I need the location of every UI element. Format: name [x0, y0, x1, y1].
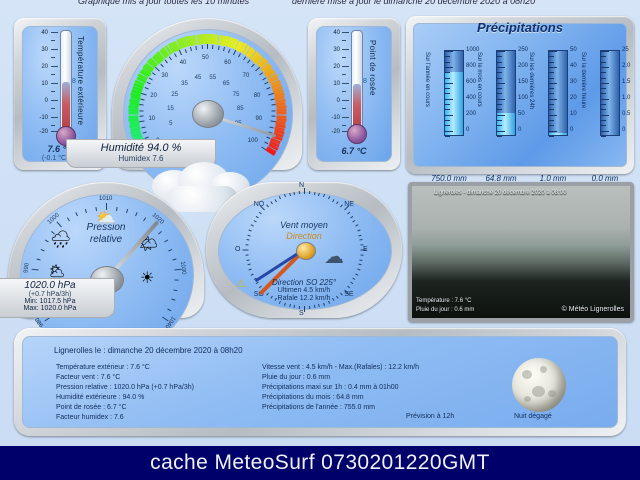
summary-line: Précipitations du mois : 64.8 mm — [262, 394, 364, 401]
top-caption: Graphique mis à jour toutes les 10 minut… — [0, 0, 640, 8]
precip-tick-label: 150 — [518, 79, 528, 85]
webcam-panel[interactable]: Ligneroles - dimanche 20 décembre 2020 à… — [408, 182, 634, 322]
precip-tick-label: 200 — [466, 111, 476, 117]
webcam-header: Ligneroles - dimanche 20 décembre 2020 à… — [434, 190, 566, 196]
precip-tick-label: 10 — [570, 111, 577, 117]
pressure-title-2: relative — [8, 234, 204, 245]
wind-gauge[interactable]: NNEESESSOONO Vent moyen Direction ⚠ ☁ Di… — [206, 182, 402, 318]
precip-tick-label: 400 — [466, 95, 476, 101]
precip-tick-label: 40 — [570, 63, 577, 69]
precip-tick-label: 50 — [570, 47, 577, 53]
summary-line: Facteur humidex : 7.6 — [56, 414, 124, 421]
precip-tick-label: 1.0 — [622, 95, 630, 101]
moon-phase-icon — [512, 358, 566, 412]
temperature-ticks — [51, 30, 59, 140]
webcam-rain: Pluie du jour : 0.6 mm — [416, 307, 474, 313]
forecast-label: Prévision à 12h — [406, 413, 454, 420]
precip-tick-label: 200 — [518, 63, 528, 69]
wind-title-2: Direction — [206, 231, 402, 241]
precip-tick-label: 50 — [518, 111, 525, 117]
precip-tick-label: 0 — [570, 127, 573, 133]
dewpoint-marker: 8 — [363, 78, 367, 85]
top-caption-right: dernière mise à jour le dimanche 20 déce… — [292, 0, 535, 6]
precip-tick-label: 250 — [518, 47, 528, 53]
webcam-credit: © Météo Lignerolles — [562, 306, 624, 313]
humidity-humidex: Humidex 7.6 — [75, 154, 207, 163]
precipitation-panel[interactable]: Précipitations Sur l'année en cours10008… — [406, 16, 634, 174]
precip-tick-label: 0 — [466, 127, 469, 133]
summary-line: Précipitations de l'année : 755.0 mm — [262, 404, 375, 411]
summary-line: Point de rosée : 6.7 °C — [56, 404, 127, 411]
precip-tick-label: 0 — [518, 127, 521, 133]
summary-date: Lignerolles le : dimanche 20 décembre 20… — [54, 346, 243, 355]
precip-tick-label: 2.0 — [622, 63, 630, 69]
cloud-rain-icon: 🌧 — [50, 230, 72, 250]
footer-text: cache MeteoSurf 0730201220GMT — [150, 451, 490, 475]
wind-hub — [296, 242, 316, 260]
precip-gauge-label: Sur les dernières 24h — [528, 52, 534, 109]
precip-tick-label: 600 — [466, 79, 476, 85]
summary-line: Précipitations maxi sur 1h : 0.4 mm à 01… — [262, 384, 399, 391]
wind-sub-1: Ultimen 4.5 km/h — [206, 287, 402, 294]
dewpoint-scale: 40 30 20 10 0 -10 -20 — [316, 30, 342, 140]
summary-line: Pression relative : 1020.0 hPa (+0.7 hPa… — [56, 384, 194, 391]
footer-bar: cache MeteoSurf 0730201220GMT — [0, 446, 640, 480]
summary-line: Facteur vent : 7.6 °C — [56, 374, 120, 381]
precip-tick-label: 25 — [622, 47, 629, 53]
precip-gauge-label: Sur la dernière heure — [580, 52, 586, 108]
temperature-tube — [60, 30, 72, 140]
summary-panel[interactable]: Lignerolles le : dimanche 20 décembre 20… — [14, 328, 626, 436]
precip-gauge-fill — [497, 113, 515, 135]
webcam-image: Ligneroles - dimanche 20 décembre 2020 à… — [412, 186, 630, 318]
wind-value: Direction SO 225° — [206, 278, 402, 287]
precip-tick-label: 0.5 — [622, 111, 630, 117]
summary-line: Température extérieur : 7.6 °C — [56, 364, 150, 371]
precip-gauge-bar — [600, 50, 620, 136]
pressure-value: 1020.0 hPa — [0, 280, 106, 291]
temperature-label: Température extérieure — [76, 36, 85, 125]
pressure-max: Max: 1020.0 hPa — [0, 305, 106, 312]
precip-tick-label: 30 — [570, 79, 577, 85]
pressure-min: Min: 1017.5 hPa — [0, 298, 106, 305]
temperature-scale: 40 30 20 10 0 -10 -20 — [24, 30, 50, 140]
precip-gauge-bar — [496, 50, 516, 136]
summary-line: Pluie du jour : 0.6 mm — [262, 374, 330, 381]
dewpoint-bulb — [347, 124, 367, 144]
precip-tick-label: 0 — [622, 127, 625, 133]
summary-line: Humidité extérieure : 94.0 % — [56, 394, 144, 401]
dewpoint-value: 6.7 °C — [308, 146, 400, 156]
precip-gauge-label: Sur le mois en cours — [476, 52, 482, 107]
dewpoint-gauge[interactable]: 40 30 20 10 0 -10 -20 8 Point de rosée 6… — [308, 18, 400, 170]
precipitation-title: Précipitations — [406, 20, 634, 35]
wind-cloud-icon: ☁ — [324, 244, 344, 269]
precip-gauge-bar — [548, 50, 568, 136]
cloud-sun-icon: ⛅ — [96, 208, 116, 228]
sun-icon: ☀ — [140, 268, 154, 288]
top-caption-left: Graphique mis à jour toutes les 10 minut… — [78, 0, 249, 6]
humidity-gauge[interactable]: 0102030405060708090100515253545556575859… — [112, 18, 302, 170]
precip-tick-label: 800 — [466, 63, 476, 69]
precip-tick-label: 20 — [570, 95, 577, 101]
pressure-trend: (+0.7 hPa/3h) — [0, 291, 106, 298]
webcam-temp: Température : 7.6 °C — [416, 298, 471, 304]
wind-sub-2: Rafale 12.2 km/h — [206, 295, 402, 302]
precip-tick-label: 1.5 — [622, 79, 630, 85]
forecast-value: Nuit dégagé — [514, 413, 552, 420]
weather-dashboard: Graphique mis à jour toutes les 10 minut… — [0, 0, 640, 480]
pressure-readout: 1020.0 hPa (+0.7 hPa/3h) Min: 1017.5 hPa… — [0, 278, 115, 318]
wind-title-1: Vent moyen — [206, 220, 402, 230]
summary-line: Vitesse vent : 4.5 km/h - Max.(Rafales) … — [262, 364, 419, 371]
humidity-hub — [192, 100, 224, 128]
precip-gauge-fill — [549, 133, 567, 135]
precip-tick-label: 100 — [518, 95, 528, 101]
dewpoint-ticks — [342, 30, 350, 140]
precip-gauge-label: Sur l'année en cours — [424, 52, 430, 107]
humidity-value: Humidité 94.0 % — [75, 142, 207, 154]
dewpoint-label: Point de rosée — [368, 40, 377, 96]
precip-gauge-bar — [444, 50, 464, 136]
